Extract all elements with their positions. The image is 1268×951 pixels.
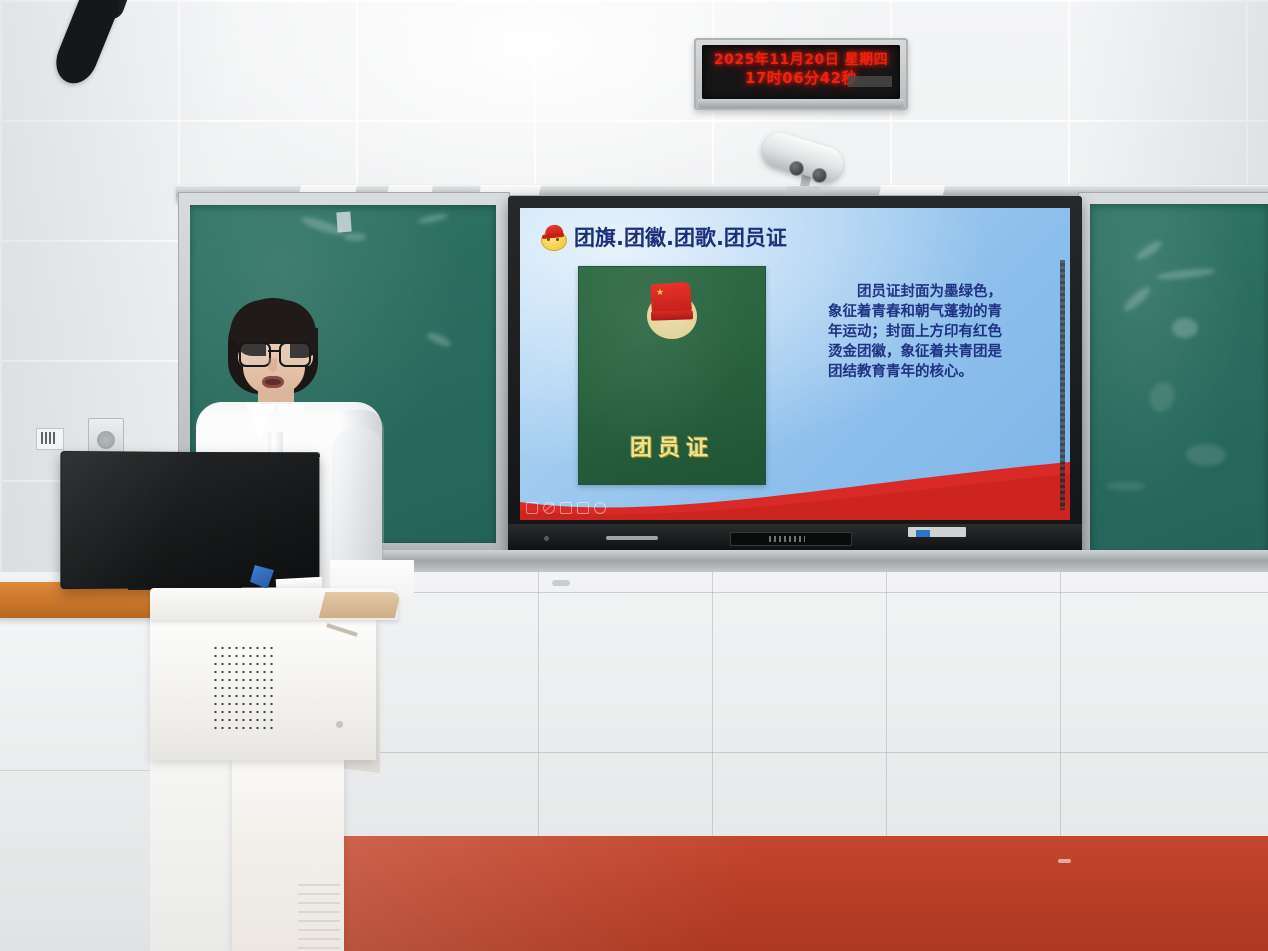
- mascot-eye-icon: [547, 238, 550, 241]
- monitor-sheen: [62, 452, 322, 588]
- led-clock-screen: 2025年11月20日 星期四 17时06分42秒: [702, 45, 900, 99]
- chalk-smudge: [1121, 284, 1153, 314]
- smart-board[interactable]: 团旗.团徽.团歌.团员证 ★ 团员证 团员证封面为墨绿色，象征着青春和朝气蓬勃的…: [508, 196, 1082, 552]
- emblem-band-icon: [651, 310, 693, 320]
- glasses-lens-left-icon: [239, 342, 271, 367]
- led-clock-date: 2025年11月20日 星期四: [702, 52, 900, 68]
- presenter-nose: [268, 358, 277, 372]
- wall-panel-seam: [1060, 572, 1061, 840]
- smart-board-side-vent: [1060, 260, 1065, 510]
- floor-marking: [1058, 859, 1071, 863]
- highlighter-icon[interactable]: [577, 502, 589, 514]
- podium-vent: [298, 884, 340, 951]
- certificate-label: 团员证: [579, 430, 765, 462]
- emblem-star-icon: ★: [656, 288, 665, 297]
- red-cap-mascot-icon: [540, 225, 566, 249]
- wall-panel-seam: [886, 572, 887, 840]
- glasses-bridge-icon: [268, 350, 281, 352]
- smart-board-handle: [606, 536, 658, 540]
- wall-panel-seam: [712, 572, 713, 840]
- wall-panel-seam: [538, 572, 539, 840]
- eraser-icon[interactable]: [594, 502, 606, 514]
- annotation-toolbar[interactable]: [526, 502, 606, 514]
- podium-base-left: [150, 758, 235, 951]
- presenter-mouth-inner: [265, 379, 281, 385]
- floor-sheen: [330, 836, 1268, 951]
- camera-lens-left-icon: [789, 161, 804, 176]
- podium-screw: [336, 721, 343, 728]
- glasses-lens-right-icon: [279, 342, 311, 367]
- chalk-smudge: [1146, 379, 1179, 415]
- smart-board-badge-accent: [916, 530, 930, 537]
- podium-speaker-grille: [212, 644, 274, 734]
- chalk-smudge: [418, 212, 449, 225]
- youth-league-emblem-icon: ★: [641, 281, 703, 341]
- smart-board-screen[interactable]: 团旗.团徽.团歌.团员证 ★ 团员证 团员证封面为墨绿色，象征着青春和朝气蓬勃的…: [520, 208, 1070, 520]
- membership-certificate-image: ★ 团员证: [578, 266, 766, 485]
- led-clock: 2025年11月20日 星期四 17时06分42秒: [694, 38, 908, 110]
- smart-board-control-panel[interactable]: [730, 532, 852, 546]
- wall-data-plate: [36, 428, 64, 450]
- stop-icon[interactable]: [526, 502, 538, 514]
- led-clock-base: [698, 99, 904, 108]
- classroom-scene: 2025年11月20日 星期四 17时06分42秒: [0, 0, 1268, 951]
- slide-header: 团旗.团徽.团歌.团员证: [540, 222, 787, 252]
- rail-tape-4: [879, 185, 945, 195]
- pen-slash-icon[interactable]: [543, 502, 555, 514]
- chalk-smudge: [1106, 482, 1146, 490]
- podium-wood-lip: [319, 592, 401, 618]
- wall-panel-knob: [552, 580, 570, 586]
- chalkboard-right: [1090, 204, 1268, 556]
- mascot-eye-icon: [556, 238, 559, 241]
- chalk-smudge: [1186, 444, 1226, 466]
- chalk-smudge: [1134, 238, 1164, 262]
- chalkboard-clip: [336, 212, 351, 233]
- slide-body-text: 团员证封面为墨绿色，象征着青春和朝气蓬勃的青年运动；封面上方印有红色烫金团徽，象…: [828, 282, 1004, 382]
- chalk-smudge: [1156, 267, 1217, 281]
- chalk-smudge: [1172, 318, 1198, 338]
- led-clock-panel-mark: [848, 76, 892, 87]
- pen-icon[interactable]: [560, 502, 572, 514]
- camera-lens-right-icon: [812, 168, 827, 183]
- chalk-smudge: [344, 233, 366, 241]
- smart-board-power-led-icon: [544, 536, 549, 541]
- chalk-smudge: [425, 330, 452, 349]
- slide-title: 团旗.团徽.团歌.团员证: [574, 222, 787, 252]
